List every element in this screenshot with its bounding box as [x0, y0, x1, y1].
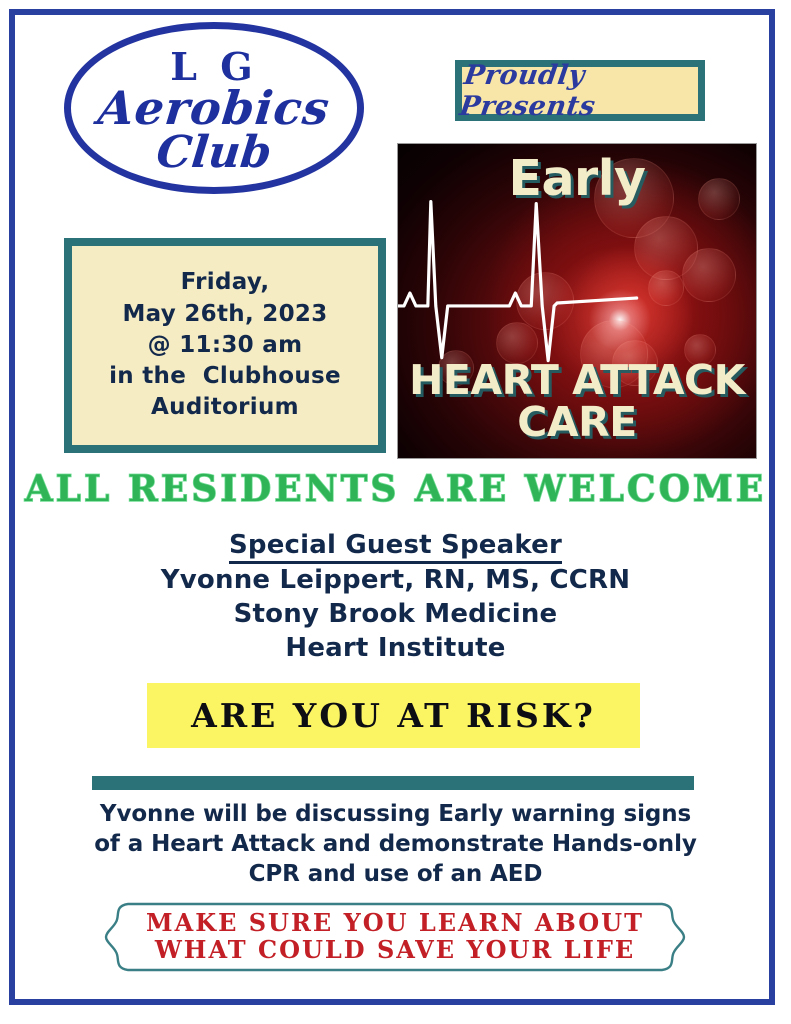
hero-title-line1: HEART ATTACK	[398, 360, 756, 402]
event-location-line2: Auditorium	[151, 392, 299, 423]
event-location-line1: in the Clubhouse	[109, 361, 341, 392]
ribbon-text: MAKE SURE YOU LEARN ABOUT WHAT COULD SAV…	[100, 910, 690, 964]
proudly-presents-box: Proudly Presents	[455, 60, 705, 121]
section-divider	[92, 776, 694, 790]
call-to-action-ribbon: MAKE SURE YOU LEARN ABOUT WHAT COULD SAV…	[100, 898, 690, 976]
description-line1: Yvonne will be discussing Early warning …	[0, 800, 791, 830]
flyer-page: L G Aerobics Club Proudly Presents Frida…	[0, 0, 791, 1024]
hero-word-early: Early	[398, 150, 756, 207]
hero-title-line2: CARE	[398, 402, 756, 444]
logo-word-club: Club	[61, 127, 366, 178]
proudly-presents-label: Proudly Presents	[458, 60, 703, 122]
heart-attack-care-image: Early HEART ATTACK CARE	[397, 143, 757, 459]
ribbon-line1: MAKE SURE YOU LEARN ABOUT	[100, 910, 690, 937]
speaker-title: Special Guest Speaker	[229, 530, 562, 564]
welcome-headline: ALL RESIDENTS ARE WELCOME	[0, 468, 791, 510]
session-description: Yvonne will be discussing Early warning …	[0, 800, 791, 890]
ribbon-line2: WHAT COULD SAVE YOUR LIFE	[100, 937, 690, 964]
event-details-box: Friday, May 26th, 2023 @ 11:30 am in the…	[64, 238, 386, 453]
event-day: Friday,	[181, 267, 270, 298]
event-time: @ 11:30 am	[148, 330, 303, 361]
description-line2: of a Heart Attack and demonstrate Hands-…	[0, 830, 791, 860]
speaker-affiliation-line1: Stony Brook Medicine	[0, 598, 791, 632]
risk-banner: ARE YOU AT RISK?	[147, 683, 640, 748]
risk-banner-text: ARE YOU AT RISK?	[191, 696, 596, 735]
club-logo: L G Aerobics Club	[64, 22, 364, 194]
hero-title: HEART ATTACK CARE	[398, 360, 756, 444]
speaker-title-wrap: Special Guest Speaker	[0, 530, 791, 564]
description-line3: CPR and use of an AED	[0, 860, 791, 890]
speaker-name: Yvonne Leippert, RN, MS, CCRN	[0, 564, 791, 598]
speaker-affiliation-line2: Heart Institute	[0, 632, 791, 666]
speaker-block: Special Guest Speaker Yvonne Leippert, R…	[0, 530, 791, 665]
event-date: May 26th, 2023	[122, 299, 327, 330]
